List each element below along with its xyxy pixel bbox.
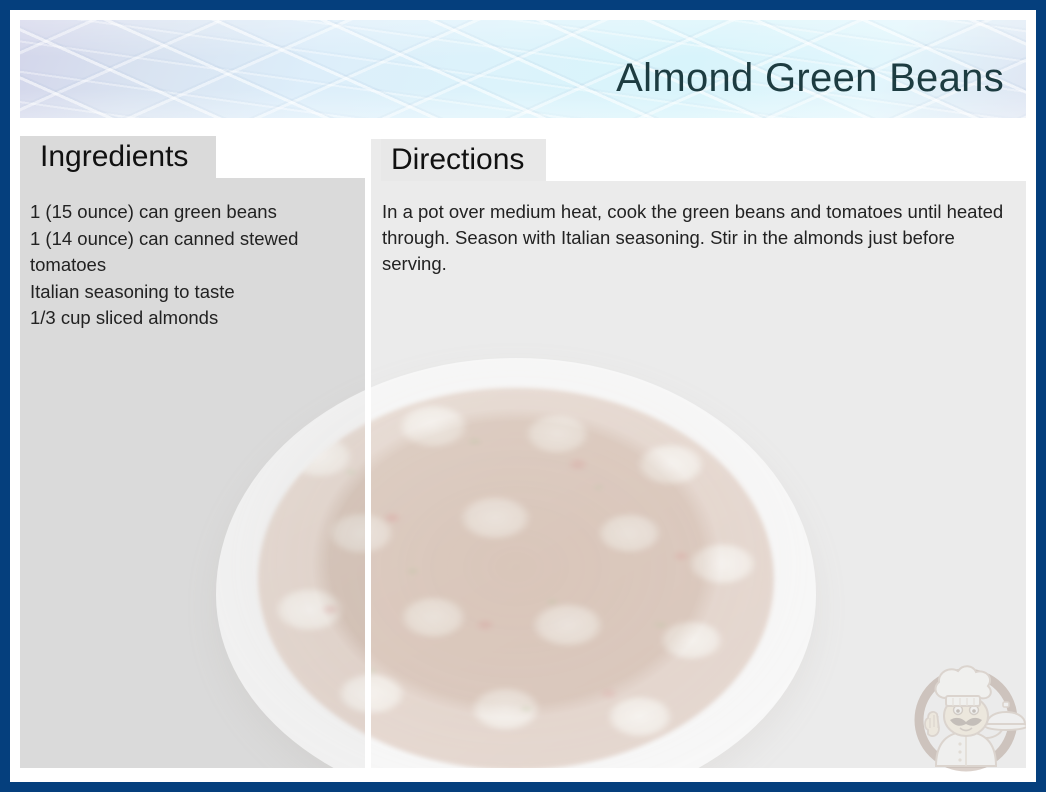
list-item: 1/3 cup sliced almonds [30,305,360,332]
recipe-page: Almond Green Beans Ingredients Direction… [10,10,1036,782]
content-panels: Ingredients Directions 1 (15 ounce) can … [20,136,1026,768]
list-item: Italian seasoning to taste [30,279,360,306]
recipe-card: Almond Green Beans Ingredients Direction… [0,0,1046,792]
ingredients-list: 1 (15 ounce) can green beans 1 (14 ounce… [30,199,360,332]
header-banner: Almond Green Beans [20,20,1026,118]
page-title: Almond Green Beans [616,56,1004,100]
list-item: 1 (15 ounce) can green beans [30,199,360,226]
ingredients-tab-gap [216,136,365,178]
directions-text: In a pot over medium heat, cook the gree… [382,199,1012,277]
panel-divider [365,136,371,768]
tab-directions[interactable]: Directions [381,139,546,181]
directions-tab-gap-right [546,139,1026,181]
tab-ingredients[interactable]: Ingredients [30,136,216,178]
list-item: 1 (14 ounce) can canned stewed tomatoes [30,226,360,279]
